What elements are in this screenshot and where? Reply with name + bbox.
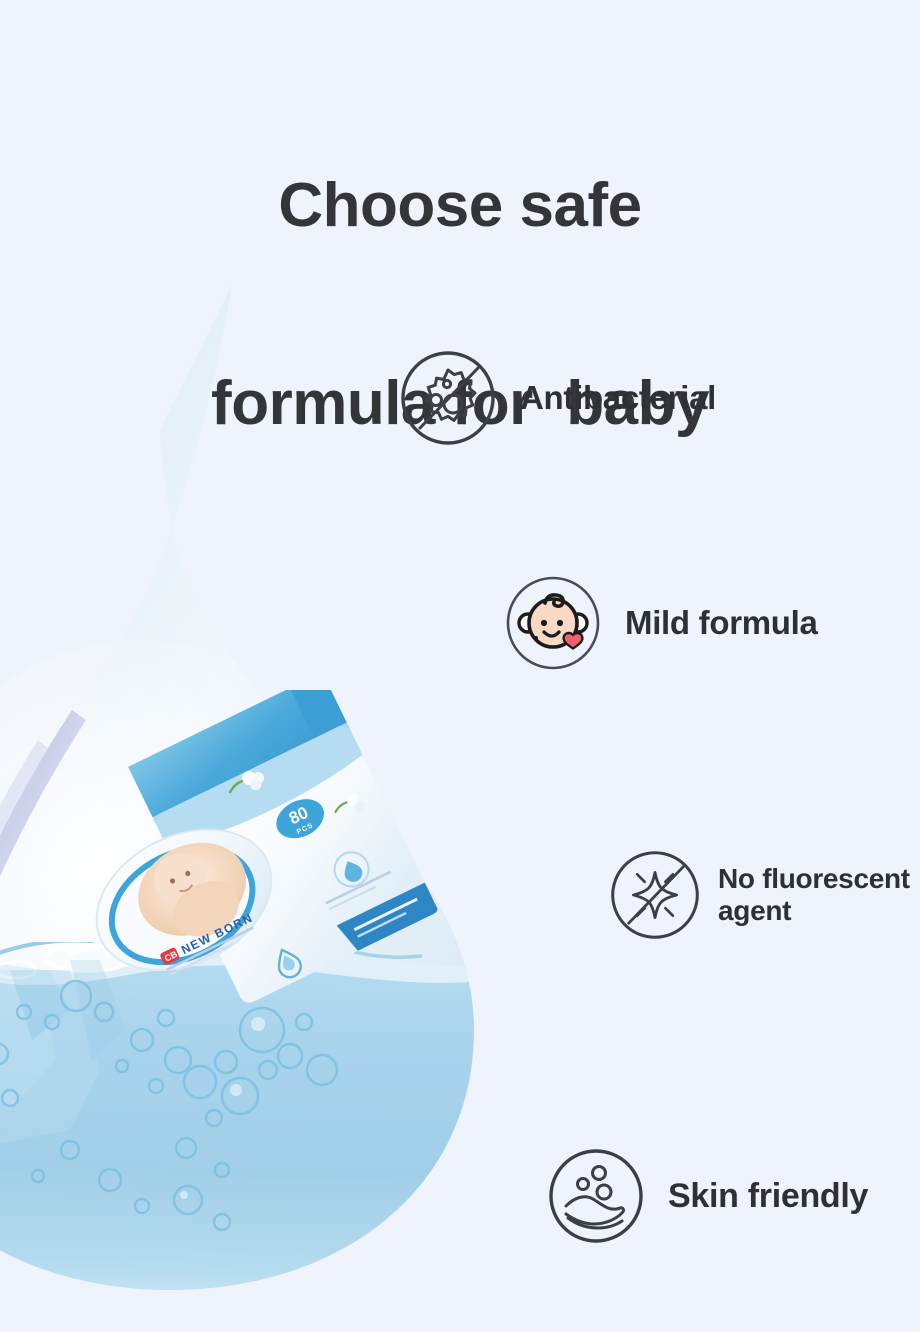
feature-label-antibacterial: Antibacterial	[520, 380, 716, 417]
hand-bubbles-icon	[546, 1146, 646, 1246]
page-title-line-1: Choose safe	[0, 173, 920, 239]
feature-antibacterial: Antibacterial	[398, 348, 716, 448]
baby-face-icon	[503, 573, 603, 673]
product-feature-banner: CB NEW BORN 80 PCS	[0, 0, 920, 1332]
page-title: Choose safe formula for baby	[0, 42, 920, 568]
feature-label-no-fluorescent-agent: No fluorescent agent	[718, 863, 910, 927]
feature-label-skin-friendly: Skin friendly	[668, 1177, 868, 1215]
feature-no-fluorescent-agent: No fluorescent agent	[608, 848, 910, 942]
germ-blocked-icon	[398, 348, 498, 448]
feature-label-mild-formula: Mild formula	[625, 605, 818, 642]
droplet-water	[0, 932, 570, 1300]
feature-skin-friendly: Skin friendly	[546, 1146, 868, 1246]
sparkle-blocked-icon	[608, 848, 702, 942]
feature-mild-formula: Mild formula	[503, 573, 818, 673]
